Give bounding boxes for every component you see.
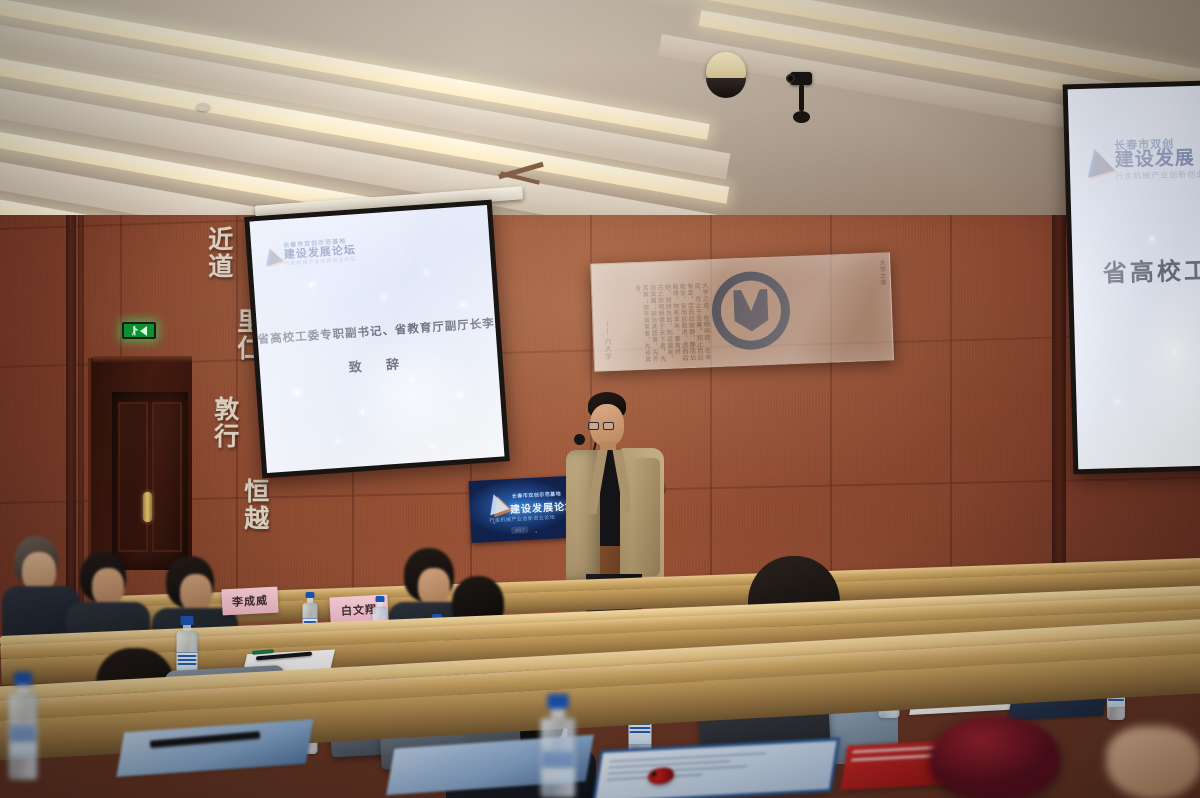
main-projection-screen: 长春市双创示范基地 建设发展论坛 行走机械产业创新创业论坛 省高校工委专职副书记…	[244, 200, 510, 479]
right-slide-title: 省高校工	[1072, 250, 1200, 290]
door-handle[interactable]	[143, 492, 152, 522]
right-projection-screen: 长春市双创 建设发展 行走机械产业创新创业 省高校工	[1063, 80, 1200, 475]
smoke-detector-icon	[196, 103, 210, 111]
speaker-glasses	[588, 422, 616, 430]
door-header-trim	[92, 356, 192, 362]
water-bottle	[540, 694, 576, 798]
water-bottle	[8, 672, 38, 780]
running-man-icon	[131, 326, 138, 336]
right-slide: 长春市双创 建设发展 行走机械产业创新创业 省高校工	[1068, 85, 1200, 470]
banner-line-4: 2017	[511, 526, 528, 534]
speaker-arm-right	[630, 458, 660, 576]
wall-glass-plaque: 大学之道，在明明德，在亲民，在止于至善。知止而后有定，定而后能静，静而后能安，安…	[590, 252, 894, 371]
right-logo-line-3: 行走机械产业创新创业	[1115, 171, 1200, 182]
main-slide: 长春市双创示范基地 建设发展论坛 行走机械产业创新创业论坛 省高校工委专职副书记…	[250, 205, 505, 473]
wall-calligraphy-3: 敦行	[210, 396, 239, 450]
conference-hall-photo: 近道 里仁 敦行 恒越 大学之道，在明明德，在亲民，在止于至善。知止而后有定，定…	[0, 0, 1200, 798]
ptz-dome-camera	[706, 52, 746, 98]
wall-mounted-camera	[790, 72, 812, 123]
right-logo-line-2: 建设发展	[1114, 149, 1200, 171]
hall-door[interactable]	[112, 392, 188, 570]
slide-title: 省高校工委专职副书记、省教育厅副厅长李成威	[257, 315, 496, 348]
slide-subtitle: 致 辞	[259, 347, 498, 383]
hand	[1106, 726, 1200, 798]
ceiling	[0, 0, 1200, 215]
document-lines	[605, 749, 828, 793]
star-swoosh-icon	[261, 246, 283, 267]
name-card: 李成威	[221, 587, 278, 616]
forum-logo-right: 长春市双创 建设发展 行走机械产业创新创业	[1083, 138, 1200, 182]
wall-calligraphy-1: 近道	[204, 226, 233, 280]
forum-logo: 长春市双创示范基地 建设发展论坛 行走机械产业创新创业论坛	[262, 238, 356, 268]
arrow-icon	[140, 326, 147, 336]
emergency-exit-sign	[122, 322, 156, 339]
wall-calligraphy-4: 恒越	[240, 478, 269, 532]
plaque-reflection	[591, 253, 893, 370]
star-swoosh-icon-right	[1081, 145, 1115, 178]
red-hat	[930, 716, 1060, 798]
